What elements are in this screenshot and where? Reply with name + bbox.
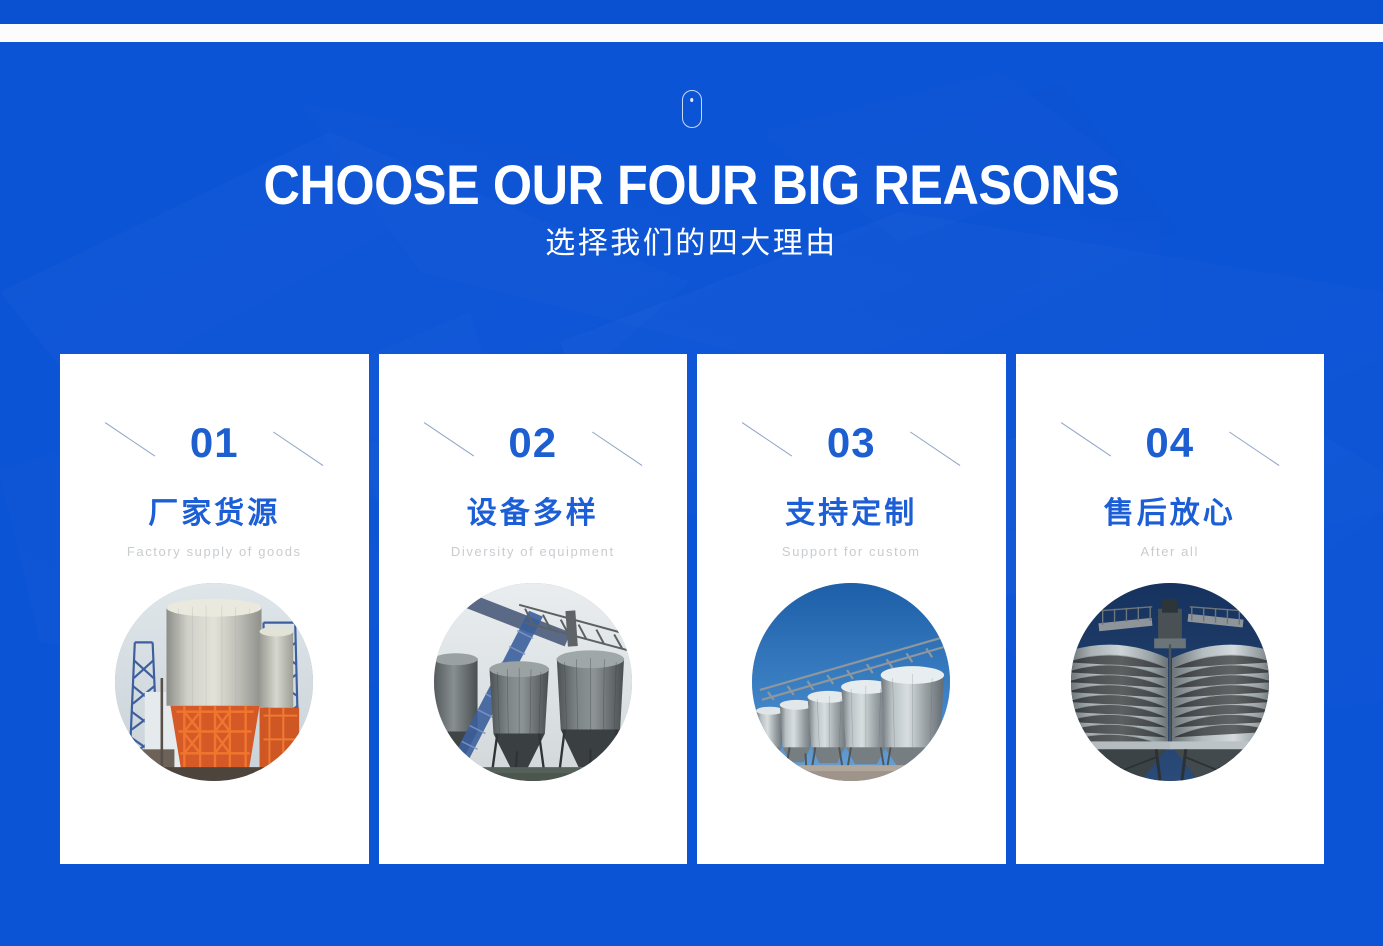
card-number: 02 <box>508 422 557 464</box>
card-title-cn: 售后放心 <box>1104 496 1236 532</box>
card-number-wrap: 02 <box>418 412 648 474</box>
page-title-en: CHOOSE OUR FOUR BIG REASONS <box>69 154 1314 216</box>
card-title-cn: 支持定制 <box>785 496 917 532</box>
hero-heading-block: CHOOSE OUR FOUR BIG REASONS 选择我们的四大理由 <box>0 154 1383 262</box>
diagonal-slash-right-icon <box>273 431 324 466</box>
card-photo <box>115 583 313 781</box>
card-number: 03 <box>827 422 876 464</box>
card-title-en: Factory supply of goods <box>119 542 309 561</box>
steel-silo-with-orange-support-frame-photo <box>115 583 313 781</box>
mouse-scroll-dot <box>690 98 694 102</box>
mouse-scroll-icon[interactable] <box>682 90 702 128</box>
diagonal-slash-left-icon <box>1060 422 1111 457</box>
diagonal-slash-left-icon <box>105 422 156 457</box>
diagonal-slash-right-icon <box>910 431 961 466</box>
card-title-en: Diversity of equipment <box>438 542 628 561</box>
card-title-en: Support for custom <box>756 542 946 561</box>
card-photo <box>434 583 632 781</box>
reason-card[interactable]: 02 设备多样 Diversity of equipment <box>379 354 688 864</box>
reason-card[interactable]: 04 售后放心 After all <box>1016 354 1325 864</box>
card-number: 01 <box>190 422 239 464</box>
card-number-wrap: 01 <box>99 412 329 474</box>
card-title-en: After all <box>1075 542 1265 561</box>
row-of-dark-grain-silos-with-conveyor-photo <box>434 583 632 781</box>
reason-card[interactable]: 01 厂家货源 Factory supply of goods <box>60 354 369 864</box>
diagonal-slash-left-icon <box>742 422 793 457</box>
card-photo <box>752 583 950 781</box>
top-blue-band <box>0 0 1383 24</box>
diagonal-slash-right-icon <box>1229 431 1280 466</box>
galvanized-silo-row-under-blue-sky-photo <box>752 583 950 781</box>
card-title-cn: 设备多样 <box>467 496 599 532</box>
card-photo <box>1071 583 1269 781</box>
card-number-wrap: 04 <box>1055 412 1285 474</box>
diagonal-slash-left-icon <box>423 422 474 457</box>
diagonal-slash-right-icon <box>592 431 643 466</box>
reasons-card-grid: 01 厂家货源 Factory supply of goods <box>60 354 1324 864</box>
top-white-divider <box>0 24 1383 42</box>
page-subtitle-cn: 选择我们的四大理由 <box>0 226 1383 262</box>
hero-section: CHOOSE OUR FOUR BIG REASONS 选择我们的四大理由 01… <box>0 42 1383 946</box>
twin-corrugated-steel-silos-closeup-photo <box>1071 583 1269 781</box>
card-title-cn: 厂家货源 <box>148 496 280 532</box>
page-root: CHOOSE OUR FOUR BIG REASONS 选择我们的四大理由 01… <box>0 0 1383 946</box>
card-number: 04 <box>1145 422 1194 464</box>
reason-card[interactable]: 03 支持定制 Support for custom <box>697 354 1006 864</box>
card-number-wrap: 03 <box>736 412 966 474</box>
